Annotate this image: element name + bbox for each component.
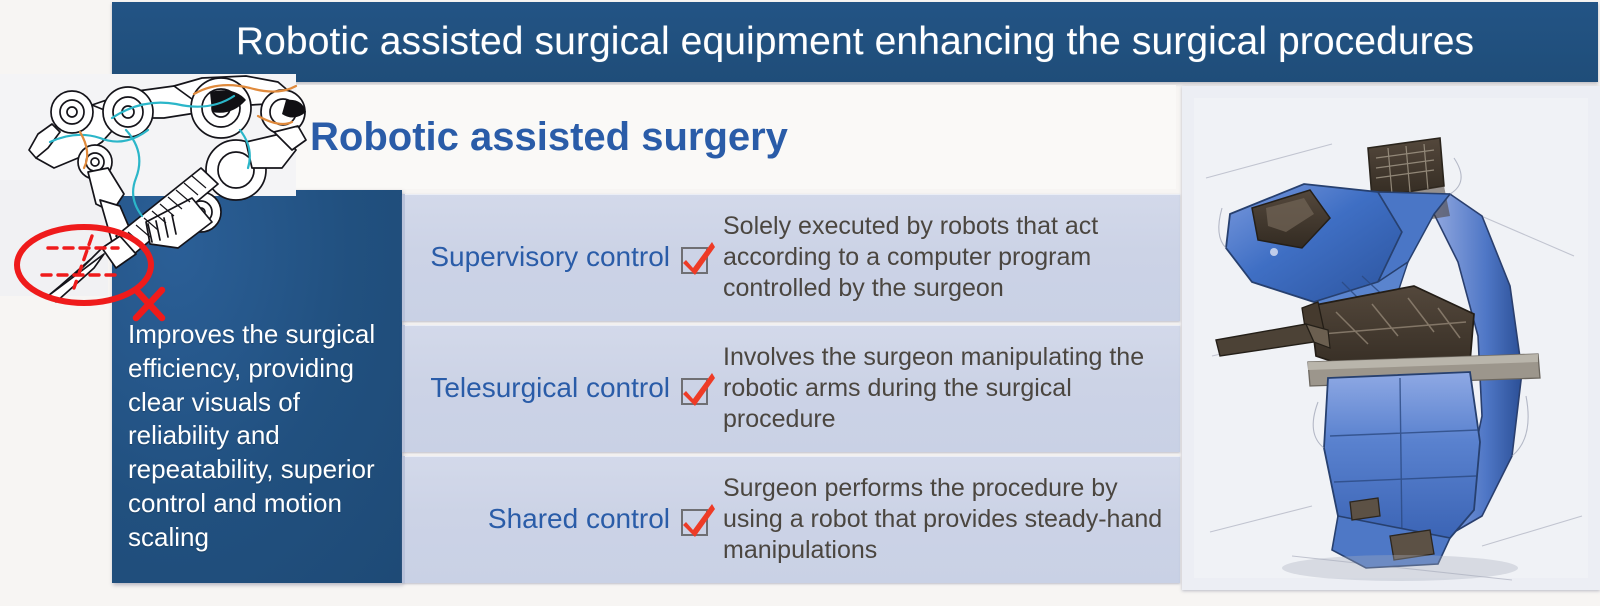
checked-checkbox-icon[interactable] bbox=[679, 372, 713, 406]
subtitle-band: Robotic assisted surgery bbox=[296, 85, 1176, 189]
control-type-list: Supervisory control Solely executed by r… bbox=[402, 190, 1177, 583]
row-label: Shared control bbox=[488, 504, 670, 535]
slide-canvas: Robotic assisted surgical equipment enha… bbox=[0, 0, 1600, 606]
table-row[interactable]: Supervisory control Solely executed by r… bbox=[402, 194, 1180, 321]
row-description: Surgeon performs the procedure by using … bbox=[723, 473, 1172, 566]
summary-panel-text: Improves the surgical efficiency, provid… bbox=[128, 318, 390, 555]
table-row[interactable]: Telesurgical control Involves the surgeo… bbox=[402, 325, 1180, 452]
checked-checkbox-icon[interactable] bbox=[679, 241, 713, 275]
row-description-cell: Surgeon performs the procedure by using … bbox=[723, 473, 1180, 566]
table-row[interactable]: Shared control Surgeon performs the proc… bbox=[402, 456, 1180, 583]
row-label: Supervisory control bbox=[430, 242, 670, 273]
robotic-arm-drawing bbox=[0, 72, 308, 334]
section-heading: Robotic assisted surgery bbox=[296, 117, 788, 157]
robotic-arm-scalpel-sketch bbox=[0, 72, 308, 334]
row-description-cell: Solely executed by robots that act accor… bbox=[723, 211, 1180, 304]
surgical-console-illustration bbox=[1182, 86, 1600, 590]
page-title: Robotic assisted surgical equipment enha… bbox=[236, 22, 1474, 63]
row-label: Telesurgical control bbox=[430, 373, 670, 404]
row-description: Solely executed by robots that act accor… bbox=[723, 211, 1172, 304]
slide-title-bar: Robotic assisted surgical equipment enha… bbox=[112, 2, 1598, 82]
row-description-cell: Involves the surgeon manipulating the ro… bbox=[723, 342, 1180, 435]
row-label-cell: Telesurgical control bbox=[405, 372, 723, 406]
checked-checkbox-icon[interactable] bbox=[679, 503, 713, 537]
row-label-cell: Supervisory control bbox=[405, 241, 723, 275]
console-drawing bbox=[1182, 86, 1600, 590]
row-label-cell: Shared control bbox=[405, 503, 723, 537]
row-description: Involves the surgeon manipulating the ro… bbox=[723, 342, 1172, 435]
